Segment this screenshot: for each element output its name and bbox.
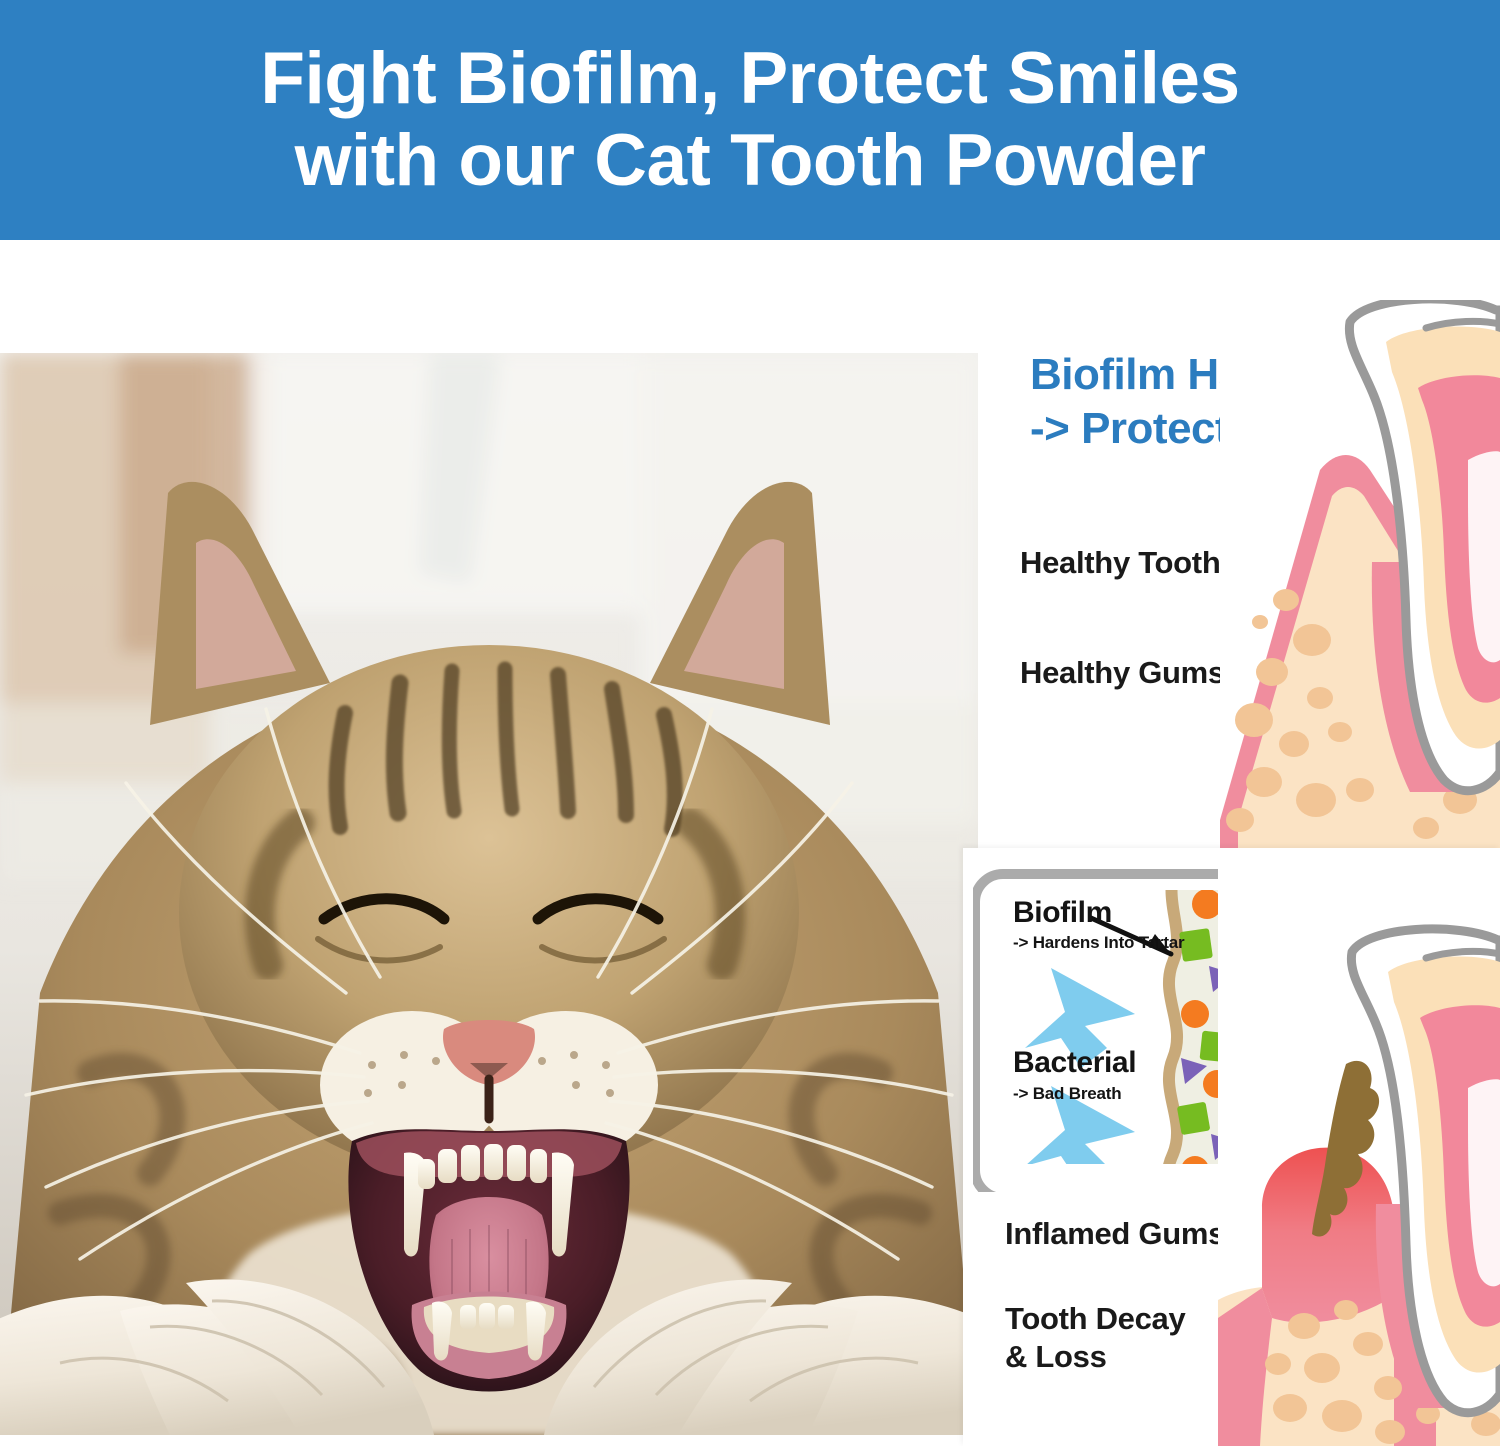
healthy-tooth-illustration: [1220, 300, 1500, 850]
callout-sub-biofilm: -> Hardens Into Tartar: [1013, 933, 1184, 953]
diseased-tooth-illustration: [1218, 848, 1500, 1446]
callout-title-bacterial: Bacterial: [1013, 1046, 1136, 1080]
callout-title-biofilm: Biofilm: [1013, 896, 1112, 930]
banner-title-line-1: Fight Biofilm, Protect Smiles: [260, 38, 1239, 120]
healthy-tooth-diagram-panel: Biofilm Harm -> Protected Healthy Tooth …: [978, 300, 1500, 850]
cat-dental-exam-photo: [0, 353, 978, 1435]
tooth-decay-line-1: Tooth Decay: [1005, 1301, 1185, 1336]
inflamed-gums-label: Inflamed Gums: [1005, 1216, 1225, 1252]
tooth-decay-loss-label: Tooth Decay & Loss: [1005, 1300, 1225, 1376]
infographic-page: Fight Biofilm, Protect Smiles with our C…: [0, 0, 1500, 1446]
callout-sub-bacterial: -> Bad Breath: [1013, 1084, 1121, 1104]
cat-photo-illustration: [0, 353, 978, 1435]
banner-title-line-2: with our Cat Tooth Powder: [295, 120, 1206, 202]
healthy-tooth-label: Healthy Tooth: [1020, 545, 1220, 581]
healthy-gums-label: Healthy Gums: [1020, 655, 1225, 691]
diseased-tooth-diagram-panel: Biofilm -> Hardens Into Tartar Bacterial…: [963, 848, 1500, 1446]
header-banner: Fight Biofilm, Protect Smiles with our C…: [0, 0, 1500, 240]
tooth-decay-line-2: & Loss: [1005, 1339, 1107, 1374]
